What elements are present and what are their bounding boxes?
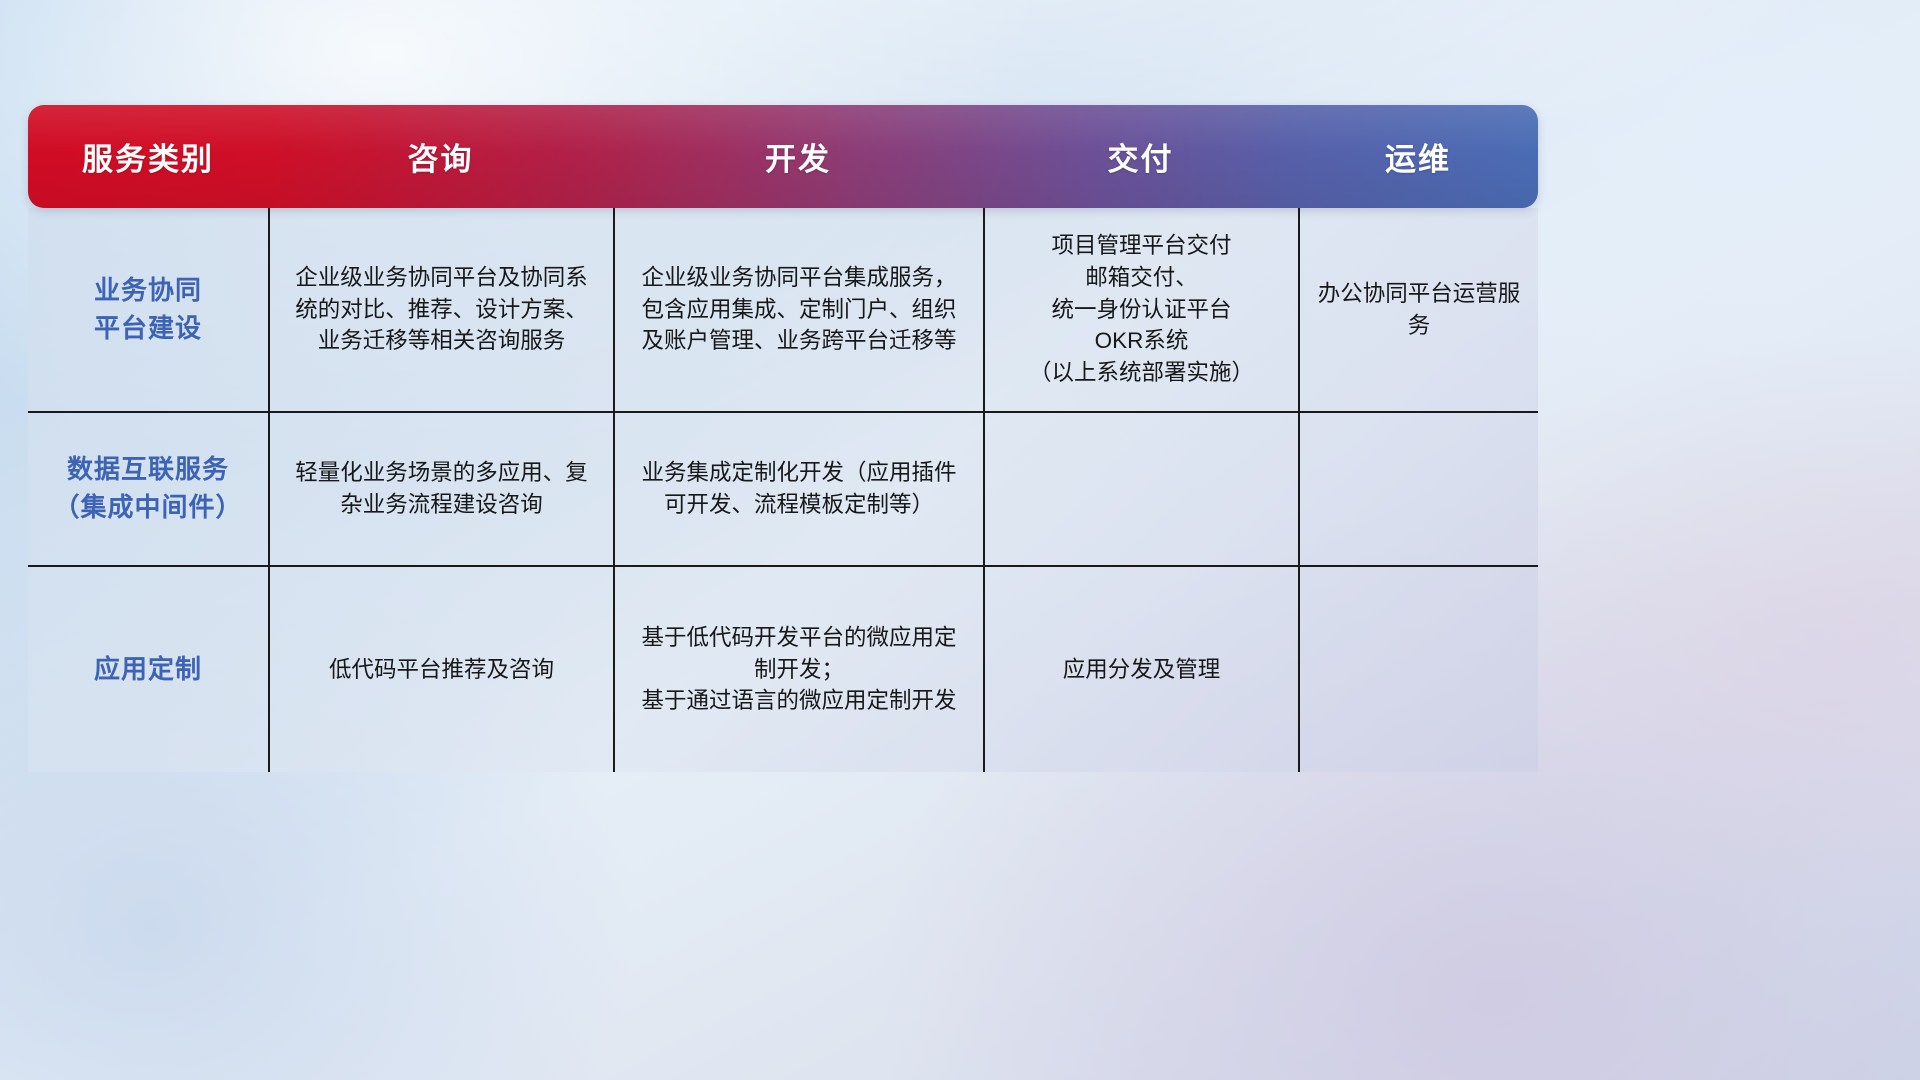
header-consulting: 咨询	[268, 134, 613, 179]
cell-operations	[1298, 567, 1538, 772]
cell-development: 业务集成定制化开发（应用插件 可开发、流程模板定制等）	[613, 413, 983, 565]
cell-operations: 办公协同平台运营服务	[1298, 208, 1538, 411]
header-operations: 运维	[1298, 134, 1538, 179]
header-development: 开发	[613, 134, 983, 179]
table-body: 业务协同 平台建设 企业级业务协同平台及协同系 统的对比、推荐、设计方案、 业务…	[28, 208, 1538, 772]
cell-delivery: 应用分发及管理	[983, 567, 1298, 772]
cell-development: 基于低代码开发平台的微应用定 制开发； 基于通过语言的微应用定制开发	[613, 567, 983, 772]
header-delivery: 交付	[983, 134, 1298, 179]
cell-category: 应用定制	[28, 567, 268, 772]
table-row: 应用定制 低代码平台推荐及咨询 基于低代码开发平台的微应用定 制开发； 基于通过…	[28, 565, 1538, 772]
cell-delivery: 项目管理平台交付 邮箱交付、 统一身份认证平台 OKR系统 （以上系统部署实施）	[983, 208, 1298, 411]
cell-category: 数据互联服务 （集成中间件）	[28, 413, 268, 565]
table-header-row: 服务类别 咨询 开发 交付 运维	[28, 105, 1538, 208]
table-row: 数据互联服务 （集成中间件） 轻量化业务场景的多应用、复 杂业务流程建设咨询 业…	[28, 411, 1538, 565]
cell-operations	[1298, 413, 1538, 565]
cell-consulting: 企业级业务协同平台及协同系 统的对比、推荐、设计方案、 业务迁移等相关咨询服务	[268, 208, 613, 411]
table-row: 业务协同 平台建设 企业级业务协同平台及协同系 统的对比、推荐、设计方案、 业务…	[28, 208, 1538, 411]
cell-delivery	[983, 413, 1298, 565]
cell-consulting: 轻量化业务场景的多应用、复 杂业务流程建设咨询	[268, 413, 613, 565]
cell-category: 业务协同 平台建设	[28, 208, 268, 411]
service-matrix-table: 服务类别 咨询 开发 交付 运维 业务协同 平台建设 企业级业务协同平台及协同系…	[28, 105, 1538, 772]
cell-consulting: 低代码平台推荐及咨询	[268, 567, 613, 772]
cell-development: 企业级业务协同平台集成服务， 包含应用集成、定制门户、组织 及账户管理、业务跨平…	[613, 208, 983, 411]
header-service-category: 服务类别	[28, 134, 268, 179]
